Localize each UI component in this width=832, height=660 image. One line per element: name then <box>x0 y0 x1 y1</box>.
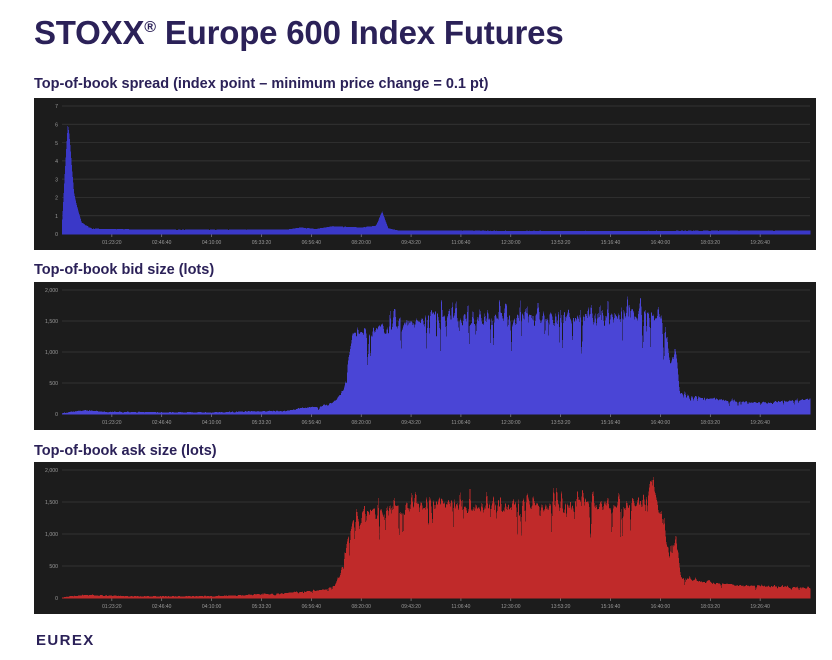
svg-text:15:16:40: 15:16:40 <box>601 240 621 246</box>
svg-text:2,000: 2,000 <box>45 468 58 474</box>
svg-text:13:53:20: 13:53:20 <box>551 604 571 610</box>
svg-text:06:56:40: 06:56:40 <box>302 420 322 426</box>
svg-text:19:26:40: 19:26:40 <box>750 420 770 426</box>
svg-text:13:53:20: 13:53:20 <box>551 420 571 426</box>
chart-caption-ask: Top-of-book ask size (lots) <box>34 443 217 459</box>
svg-text:01:23:20: 01:23:20 <box>102 240 122 246</box>
chart-plot-area-ask: 05001,0001,5002,00001:23:2002:46:4004:10… <box>34 462 816 614</box>
svg-text:04:10:00: 04:10:00 <box>202 604 222 610</box>
svg-text:08:20:00: 08:20:00 <box>351 240 371 246</box>
svg-text:11:06:40: 11:06:40 <box>451 420 470 426</box>
svg-text:2,000: 2,000 <box>45 288 58 294</box>
svg-text:12:30:00: 12:30:00 <box>501 604 521 610</box>
eurex-logo: EUREX <box>36 632 95 649</box>
svg-text:6: 6 <box>55 122 58 128</box>
chart-panel-spread[interactable]: 0123456701:23:2002:46:4004:10:0005:33:20… <box>34 98 816 250</box>
svg-text:16:40:00: 16:40:00 <box>651 604 671 610</box>
chart-panel-ask[interactable]: 05001,0001,5002,00001:23:2002:46:4004:10… <box>34 462 816 614</box>
svg-text:2: 2 <box>55 196 58 202</box>
svg-text:09:43:20: 09:43:20 <box>401 420 421 426</box>
svg-text:04:10:00: 04:10:00 <box>202 240 222 246</box>
svg-text:16:40:00: 16:40:00 <box>651 420 671 426</box>
svg-text:05:33:20: 05:33:20 <box>252 604 272 610</box>
svg-text:12:30:00: 12:30:00 <box>501 240 521 246</box>
page-title-main: STOXX <box>34 14 144 51</box>
chart-plot-area-spread: 0123456701:23:2002:46:4004:10:0005:33:20… <box>34 98 816 250</box>
svg-text:06:56:40: 06:56:40 <box>302 604 322 610</box>
svg-text:1: 1 <box>55 214 58 220</box>
registered-trademark-icon: ® <box>144 19 156 36</box>
svg-text:0: 0 <box>55 232 58 238</box>
svg-text:01:23:20: 01:23:20 <box>102 420 122 426</box>
svg-text:08:20:00: 08:20:00 <box>351 604 371 610</box>
svg-text:7: 7 <box>55 104 58 110</box>
svg-text:09:43:20: 09:43:20 <box>401 240 421 246</box>
svg-text:06:56:40: 06:56:40 <box>302 240 322 246</box>
svg-text:02:46:40: 02:46:40 <box>152 604 172 610</box>
svg-text:1,500: 1,500 <box>45 319 58 325</box>
chart-caption-bid: Top-of-book bid size (lots) <box>34 262 214 278</box>
svg-text:01:23:20: 01:23:20 <box>102 604 122 610</box>
svg-text:15:16:40: 15:16:40 <box>601 604 621 610</box>
svg-text:04:10:00: 04:10:00 <box>202 420 222 426</box>
page-title-rest: Europe 600 Index Futures <box>156 14 564 51</box>
svg-text:0: 0 <box>55 596 58 602</box>
svg-text:16:40:00: 16:40:00 <box>651 240 671 246</box>
svg-text:02:46:40: 02:46:40 <box>152 240 172 246</box>
svg-text:08:20:00: 08:20:00 <box>351 420 371 426</box>
svg-text:500: 500 <box>49 564 58 570</box>
svg-text:4: 4 <box>55 159 58 165</box>
svg-text:18:03:20: 18:03:20 <box>701 240 721 246</box>
svg-text:05:33:20: 05:33:20 <box>252 240 272 246</box>
svg-text:13:53:20: 13:53:20 <box>551 240 571 246</box>
chart-panel-bid[interactable]: 05001,0001,5002,00001:23:2002:46:4004:10… <box>34 282 816 430</box>
svg-text:0: 0 <box>55 412 58 418</box>
svg-text:12:30:00: 12:30:00 <box>501 420 521 426</box>
svg-text:05:33:20: 05:33:20 <box>252 420 272 426</box>
svg-text:18:03:20: 18:03:20 <box>701 604 721 610</box>
page-title: STOXX® Europe 600 Index Futures <box>34 14 563 52</box>
svg-text:15:16:40: 15:16:40 <box>601 420 621 426</box>
svg-text:02:46:40: 02:46:40 <box>152 420 172 426</box>
svg-text:1,000: 1,000 <box>45 532 58 538</box>
svg-text:18:03:20: 18:03:20 <box>701 420 721 426</box>
svg-text:11:06:40: 11:06:40 <box>451 240 470 246</box>
svg-text:500: 500 <box>49 381 58 387</box>
svg-text:1,000: 1,000 <box>45 350 58 356</box>
svg-text:5: 5 <box>55 141 58 147</box>
slide-page: STOXX® Europe 600 Index Futures Top-of-b… <box>0 0 832 660</box>
svg-text:09:43:20: 09:43:20 <box>401 604 421 610</box>
svg-text:11:06:40: 11:06:40 <box>451 604 470 610</box>
svg-text:3: 3 <box>55 177 58 183</box>
svg-text:19:26:40: 19:26:40 <box>750 240 770 246</box>
chart-caption-spread: Top-of-book spread (index point – minimu… <box>34 76 489 92</box>
svg-text:1,500: 1,500 <box>45 500 58 506</box>
chart-plot-area-bid: 05001,0001,5002,00001:23:2002:46:4004:10… <box>34 282 816 430</box>
svg-text:19:26:40: 19:26:40 <box>750 604 770 610</box>
